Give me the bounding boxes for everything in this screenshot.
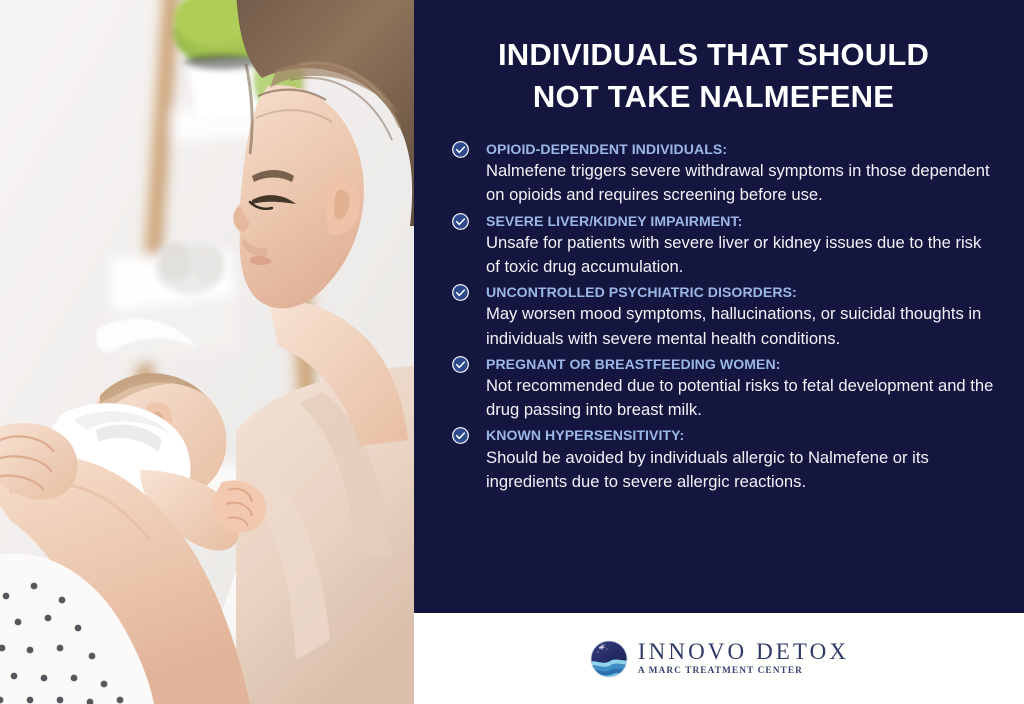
check-circle-icon xyxy=(452,284,469,301)
contraindication-list: OPIOID-DEPENDENT INDIVIDUALS: Nalmefene … xyxy=(433,139,994,494)
footer: INNOVO DETOX A MARC TREATMENT CENTER xyxy=(414,613,1024,704)
list-item-body: Not recommended due to potential risks t… xyxy=(486,374,994,422)
list-item-title: OPIOID-DEPENDENT INDIVIDUALS: xyxy=(486,139,994,159)
list-item-body: May worsen mood symptoms, hallucinations… xyxy=(486,302,994,350)
list-item-body: Should be avoided by individuals allergi… xyxy=(486,446,994,494)
list-item: OPIOID-DEPENDENT INDIVIDUALS: Nalmefene … xyxy=(445,139,994,208)
brand-name: INNOVO DETOX xyxy=(638,640,849,663)
check-circle-icon xyxy=(452,356,469,373)
list-item: KNOWN HYPERSENSITIVITY: Should be avoide… xyxy=(445,425,994,494)
list-item-body: Unsafe for patients with severe liver or… xyxy=(486,231,994,279)
page-title: INDIVIDUALS THAT SHOULD NOT TAKE NALMEFE… xyxy=(433,34,994,117)
list-item: SEVERE LIVER/KIDNEY IMPAIRMENT: Unsafe f… xyxy=(445,211,994,280)
page-title-line-1: INDIVIDUALS THAT SHOULD xyxy=(457,34,970,76)
mother-breastfeeding-baby-photo xyxy=(0,0,414,704)
list-item-title: PREGNANT OR BREASTFEEDING WOMEN: xyxy=(486,354,994,374)
content-panel: INDIVIDUALS THAT SHOULD NOT TAKE NALMEFE… xyxy=(414,0,1024,613)
list-item-body: Nalmefene triggers severe withdrawal sym… xyxy=(486,159,994,207)
check-circle-icon xyxy=(452,141,469,158)
brand-tagline: A MARC TREATMENT CENTER xyxy=(638,667,849,676)
list-item-title: SEVERE LIVER/KIDNEY IMPAIRMENT: xyxy=(486,211,994,231)
list-item-title: UNCONTROLLED PSYCHIATRIC DISORDERS: xyxy=(486,282,994,302)
brand-logo: INNOVO DETOX A MARC TREATMENT CENTER xyxy=(589,639,849,679)
check-circle-icon xyxy=(452,213,469,230)
wave-night-circle-logo-icon xyxy=(589,639,629,679)
brand-text: INNOVO DETOX A MARC TREATMENT CENTER xyxy=(638,640,849,676)
list-item: UNCONTROLLED PSYCHIATRIC DISORDERS: May … xyxy=(445,282,994,351)
infographic-root: INDIVIDUALS THAT SHOULD NOT TAKE NALMEFE… xyxy=(0,0,1024,704)
page-title-line-2: NOT TAKE NALMEFENE xyxy=(457,76,970,118)
check-circle-icon xyxy=(452,427,469,444)
photo-illustration xyxy=(0,0,414,704)
list-item-title: KNOWN HYPERSENSITIVITY: xyxy=(486,425,994,445)
list-item: PREGNANT OR BREASTFEEDING WOMEN: Not rec… xyxy=(445,354,994,423)
